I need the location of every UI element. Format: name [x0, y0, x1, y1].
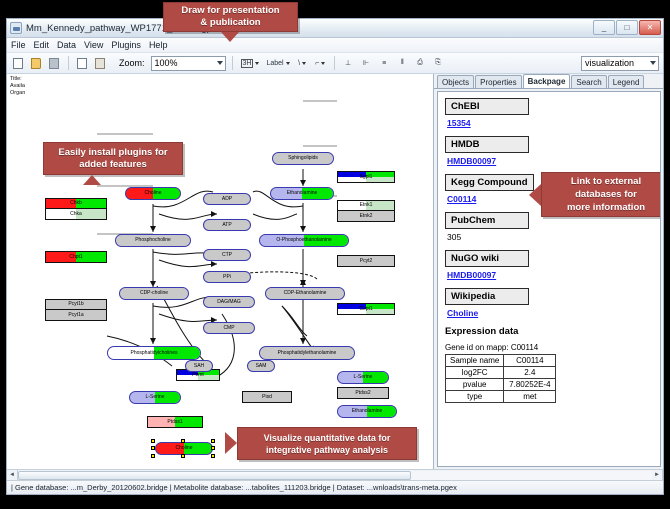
- metabolite-node-atp[interactable]: ATP: [203, 219, 251, 231]
- align-left-tool[interactable]: ⊩: [359, 56, 374, 71]
- group-tool[interactable]: ⎙: [413, 56, 428, 71]
- new-file-icon[interactable]: [11, 56, 26, 71]
- gene-node-chpt1[interactable]: Chpt1: [45, 251, 107, 263]
- metabolite-node-cdp-choline[interactable]: CDP-choline: [119, 287, 189, 300]
- selection-handle-w[interactable]: [151, 446, 155, 450]
- metabolite-node-dagmag[interactable]: DAG/MAG: [203, 296, 255, 308]
- backpage-heading-chebi: ChEBI: [445, 98, 529, 115]
- gene-label-pcyt1a: Pcyt1a: [68, 313, 83, 318]
- metabolite-label-ctp: CTP: [222, 253, 232, 258]
- open-file-icon[interactable]: [29, 56, 44, 71]
- callout-plugins: Easily install plugins for added feature…: [43, 142, 183, 175]
- expression-gene-id: Gene id on mapp: C00114: [445, 343, 653, 352]
- gene-label-pcyt1b: Pcyt1b: [68, 302, 83, 307]
- ungroup-icon: ⎘: [435, 59, 441, 67]
- metabolite-node-ethanolamine[interactable]: Ethanolamine: [270, 187, 334, 200]
- scroll-thumb[interactable]: [18, 471, 411, 480]
- gene-label-pisd: Pisd: [262, 395, 272, 400]
- distribute-icon: ⦀: [401, 59, 404, 67]
- metabolite-node-adp[interactable]: ADP: [203, 193, 251, 205]
- main-split: Title: Availa Organ: [7, 74, 663, 469]
- gene-label-etnk2: Etnk2: [360, 214, 373, 219]
- copy-icon[interactable]: [75, 56, 90, 71]
- backpage-value-pubchem: 305: [447, 232, 653, 242]
- scroll-right-icon[interactable]: ►: [652, 470, 663, 481]
- label-tool[interactable]: Label: [264, 56, 291, 71]
- gene-node-etnk1[interactable]: Etnk1: [337, 200, 395, 211]
- zoom-value: 100%: [155, 58, 178, 68]
- save-file-icon[interactable]: [47, 56, 62, 71]
- chevron-down-icon: [650, 61, 656, 65]
- backpage-heading-hmdb: HMDB: [445, 136, 529, 153]
- group-icon: ⎙: [417, 59, 423, 67]
- tool-bar: Zoom: 100% 3H Label \ ⌐ ⊥ ⊩ ≡ ⦀ ⎙ ⎘: [7, 53, 663, 74]
- callout-plugins-line2: added features: [79, 159, 147, 171]
- gene-label-ptdss2: Ptdss2: [355, 391, 370, 396]
- expression-row-value: C00114: [504, 355, 556, 367]
- selection-handle-s[interactable]: [181, 454, 185, 458]
- metabolite-label-ethanolamine: Ethanolamine: [287, 191, 318, 196]
- side-panel: Objects Properties Backpage Search Legen…: [434, 74, 663, 469]
- gene-node-pisd[interactable]: Pisd: [242, 391, 292, 403]
- expression-row-value: met: [504, 391, 556, 403]
- selection-handle-sw[interactable]: [151, 454, 155, 458]
- selection-handle-se[interactable]: [211, 454, 215, 458]
- metabolite-label-atp: ATP: [222, 223, 231, 228]
- gene-node-etnk2[interactable]: Etnk2: [337, 211, 395, 222]
- metabolite-node-sah[interactable]: SAH: [185, 360, 213, 372]
- metabolite-label-sah: SAH: [194, 364, 204, 369]
- metabolite-node-l-serine-2[interactable]: L-Serine: [129, 391, 181, 404]
- metabolite-label-ethanolamine-2: Ethanolamine: [352, 409, 383, 414]
- tab-objects[interactable]: Objects: [437, 75, 474, 88]
- interaction-icon: ⌐: [315, 60, 319, 67]
- table-row: log2FC 2.4: [446, 367, 556, 379]
- pathvisio-window: Mm_Kennedy_pathway_WP1771_45176.gpml _ □…: [6, 18, 664, 495]
- align-left-icon: ⊩: [363, 59, 369, 67]
- app-icon: [10, 22, 22, 34]
- menu-item-view[interactable]: View: [84, 40, 103, 50]
- toolbar-separator: [68, 56, 69, 70]
- tab-legend[interactable]: Legend: [608, 75, 645, 88]
- gene-node-chkb[interactable]: Chkb: [45, 198, 107, 209]
- table-row: pvalue 7.80252E-4: [446, 379, 556, 391]
- callout-link-line2: databases for: [575, 188, 637, 201]
- callout-external-links: Link to external databases for more info…: [541, 172, 661, 217]
- backpage-link-chebi[interactable]: 15354: [447, 118, 653, 128]
- backpage-link-nugo[interactable]: HMDB00097: [447, 270, 653, 280]
- callout-external-links-arrow: [529, 184, 541, 206]
- metabolite-label-phosphocholine: Phosphocholine: [135, 238, 171, 243]
- selected-node-wrapper[interactable]: Choline: [150, 438, 218, 458]
- metabolite-label-choline-top: Choline: [145, 191, 162, 196]
- metabolite-node-ctp[interactable]: CTP: [203, 249, 251, 261]
- selection-handle-nw[interactable]: [151, 439, 155, 443]
- expression-row-value: 7.80252E-4: [504, 379, 556, 391]
- menu-item-plugins[interactable]: Plugins: [111, 40, 141, 50]
- metabolite-label-ppi: PPi: [223, 275, 231, 280]
- menu-item-data[interactable]: Data: [57, 40, 76, 50]
- gene-node-pcyt2[interactable]: Pcyt2: [337, 255, 395, 267]
- callout-draw-line1: Draw for presentation: [181, 5, 279, 17]
- gene-node-ptdss1[interactable]: Ptdss1: [147, 416, 203, 428]
- backpage-heading-wikipedia: Wikipedia: [445, 288, 529, 305]
- label-icon: Label: [266, 60, 283, 67]
- menu-item-file[interactable]: File: [11, 40, 26, 50]
- close-button[interactable]: ✕: [639, 20, 661, 35]
- gene-label-pemt: Pemt: [192, 373, 204, 378]
- interaction-tool[interactable]: ⌐: [313, 56, 328, 71]
- metabolite-node-sphingolipids[interactable]: Sphingolipids: [272, 152, 334, 165]
- expression-row-name: log2FC: [446, 367, 504, 379]
- metabolite-label-adp: ADP: [222, 197, 232, 202]
- gene-label-chkb: Chkb: [70, 201, 82, 206]
- callout-draw: Draw for presentation & publication: [163, 2, 298, 32]
- callout-draw-arrow: [221, 32, 239, 42]
- ungroup-tool[interactable]: ⎘: [431, 56, 446, 71]
- table-row: Sample name C00114: [446, 355, 556, 367]
- selection-handle-e[interactable]: [211, 446, 215, 450]
- chevron-down-icon: [321, 62, 325, 65]
- title-bar: Mm_Kennedy_pathway_WP1771_45176.gpml _ □…: [7, 19, 663, 38]
- side-panel-tabs: Objects Properties Backpage Search Legen…: [434, 74, 663, 89]
- callout-plugins-line1: Easily install plugins for: [58, 147, 167, 159]
- metabolite-label-sphingolipids: Sphingolipids: [288, 156, 318, 161]
- chevron-down-icon: [217, 61, 223, 65]
- callout-visualize-line1: Visualize quantitative data for: [264, 432, 391, 444]
- metabolite-label-phosphatidylcholines: Phosphatidylcholines: [131, 351, 178, 356]
- status-bar: | Gene database: ...m_Derby_20120602.bri…: [7, 480, 663, 494]
- datanode-icon: 3H: [241, 59, 254, 68]
- tab-search[interactable]: Search: [571, 75, 606, 88]
- backpage-content: ChEBI 15354 HMDB HMDB00097 Kegg Compound…: [437, 91, 661, 467]
- visualization-combo[interactable]: visualization: [581, 56, 659, 71]
- metabolite-node-l-serine-1[interactable]: L-Serine: [337, 371, 389, 384]
- chevron-down-icon: [286, 62, 290, 65]
- line-icon: \: [298, 60, 300, 67]
- line-tool[interactable]: \: [295, 56, 310, 71]
- gene-label-ptdss1: Ptdss1: [167, 420, 182, 425]
- minimize-button[interactable]: _: [593, 20, 615, 35]
- callout-link-line1: Link to external: [571, 175, 641, 188]
- callout-visualize: Visualize quantitative data for integrat…: [237, 427, 417, 460]
- metabolite-node-phosphatidylcholines[interactable]: Phosphatidylcholines: [107, 346, 201, 360]
- gene-node-pcyt1b[interactable]: Pcyt1b: [45, 299, 107, 310]
- metabolite-node-phosphatidylethanolamine[interactable]: Phosphatidylethanolamine: [259, 346, 355, 360]
- table-row: type met: [446, 391, 556, 403]
- window-controls: _ □ ✕: [593, 20, 661, 35]
- backpage-heading-pubchem: PubChem: [445, 212, 529, 229]
- gene-node-pcyt1a[interactable]: Pcyt1a: [45, 310, 107, 321]
- callout-visualize-line2: integrative pathway analysis: [266, 444, 388, 456]
- gene-label-cept1: Cept1: [359, 307, 372, 312]
- metabolite-label-cmp: CMP: [223, 326, 234, 331]
- metabolite-label-sam: SAM: [256, 364, 267, 369]
- stack-icon: ≡: [382, 60, 386, 67]
- callout-plugins-arrow: [83, 175, 101, 185]
- toolbar-separator-3: [334, 56, 335, 70]
- expression-row-name: type: [446, 391, 504, 403]
- expression-data-title: Expression data: [445, 326, 653, 337]
- tab-backpage[interactable]: Backpage: [523, 74, 571, 88]
- backpage-heading-nugo: NuGO wiki: [445, 250, 529, 267]
- selection-handle-n[interactable]: [181, 439, 185, 443]
- gene-node-sgpl1[interactable]: Sgpl1: [337, 171, 395, 183]
- metabolite-label-o-phosphoethanolamine: O-Phosphoethanolamine: [276, 238, 331, 243]
- selection-handle-ne[interactable]: [211, 439, 215, 443]
- backpage-link-hmdb[interactable]: HMDB00097: [447, 156, 653, 166]
- menu-item-help[interactable]: Help: [149, 40, 168, 50]
- zoom-combo[interactable]: 100%: [151, 56, 226, 71]
- chevron-down-icon: [255, 62, 259, 65]
- gene-label-etnk1: Etnk1: [360, 203, 373, 208]
- callout-link-line3: more information: [567, 201, 645, 214]
- pathway-canvas-pane[interactable]: Title: Availa Organ: [7, 74, 434, 469]
- tab-properties[interactable]: Properties: [475, 75, 521, 88]
- metabolite-node-phosphocholine[interactable]: Phosphocholine: [115, 234, 191, 247]
- metabolite-label-cdp-ethanolamine: CDP-Ethanolamine: [284, 291, 327, 296]
- datanode-tool[interactable]: 3H: [239, 56, 262, 71]
- metabolite-label-dagmag: DAG/MAG: [217, 300, 241, 305]
- visualization-value: visualization: [585, 58, 634, 68]
- distribute-tool[interactable]: ⦀: [395, 56, 410, 71]
- chevron-down-icon: [302, 62, 306, 65]
- toolbar-right-group: visualization: [581, 56, 663, 71]
- expression-table: Sample name C00114 log2FC 2.4 pvalue 7.8…: [445, 354, 556, 403]
- metabolite-node-sam[interactable]: SAM: [247, 360, 275, 372]
- stack-tool[interactable]: ≡: [377, 56, 392, 71]
- gene-node-chka[interactable]: Chka: [45, 209, 107, 220]
- scroll-left-icon[interactable]: ◄: [7, 470, 18, 481]
- metabolite-label-phosphatidylethanolamine: Phosphatidylethanolamine: [278, 351, 337, 356]
- maximize-button[interactable]: □: [616, 20, 638, 35]
- scroll-track[interactable]: [18, 471, 652, 480]
- gene-label-sgpl1: Sgpl1: [360, 175, 373, 180]
- metabolite-node-cmp[interactable]: CMP: [203, 322, 255, 334]
- menu-bar: File Edit Data View Plugins Help: [7, 38, 663, 53]
- backpage-link-wikipedia[interactable]: Choline: [447, 308, 653, 318]
- metabolite-node-ethanolamine-2[interactable]: Ethanolamine: [337, 405, 397, 418]
- expression-row-name: pvalue: [446, 379, 504, 391]
- backpage-heading-kegg: Kegg Compound: [445, 174, 534, 191]
- paste-icon[interactable]: [93, 56, 108, 71]
- toolbar-separator-2: [232, 56, 233, 70]
- align-top-icon: ⊥: [345, 59, 351, 67]
- metabolite-node-ppi[interactable]: PPi: [203, 271, 251, 283]
- horizontal-scrollbar[interactable]: ◄ ►: [7, 469, 663, 480]
- metabolite-label-l-serine-1: L-Serine: [354, 375, 373, 380]
- metabolite-label-choline-selected: Choline: [176, 446, 193, 451]
- gene-label-chka: Chka: [70, 212, 82, 217]
- align-top-tool[interactable]: ⊥: [341, 56, 356, 71]
- gene-label-pcyt2: Pcyt2: [360, 259, 373, 264]
- metabolite-node-choline-top[interactable]: Choline: [125, 187, 181, 200]
- zoom-label: Zoom:: [119, 58, 145, 68]
- expression-row-name: Sample name: [446, 355, 504, 367]
- gene-node-ptdss2[interactable]: Ptdss2: [337, 387, 389, 399]
- menu-item-edit[interactable]: Edit: [34, 40, 50, 50]
- metabolite-node-cdp-ethanolamine[interactable]: CDP-Ethanolamine: [265, 287, 345, 300]
- metabolite-label-l-serine-2: L-Serine: [146, 395, 165, 400]
- metabolite-label-cdp-choline: CDP-choline: [140, 291, 168, 296]
- callout-draw-line2: & publication: [200, 17, 260, 29]
- gene-node-cept1[interactable]: Cept1: [337, 303, 395, 315]
- expression-row-value: 2.4: [504, 367, 556, 379]
- status-text: | Gene database: ...m_Derby_20120602.bri…: [11, 483, 457, 492]
- callout-visualize-arrow: [225, 432, 237, 454]
- gene-label-chpt1: Chpt1: [69, 255, 82, 260]
- metabolite-node-o-phosphoethanolamine[interactable]: O-Phosphoethanolamine: [259, 234, 349, 247]
